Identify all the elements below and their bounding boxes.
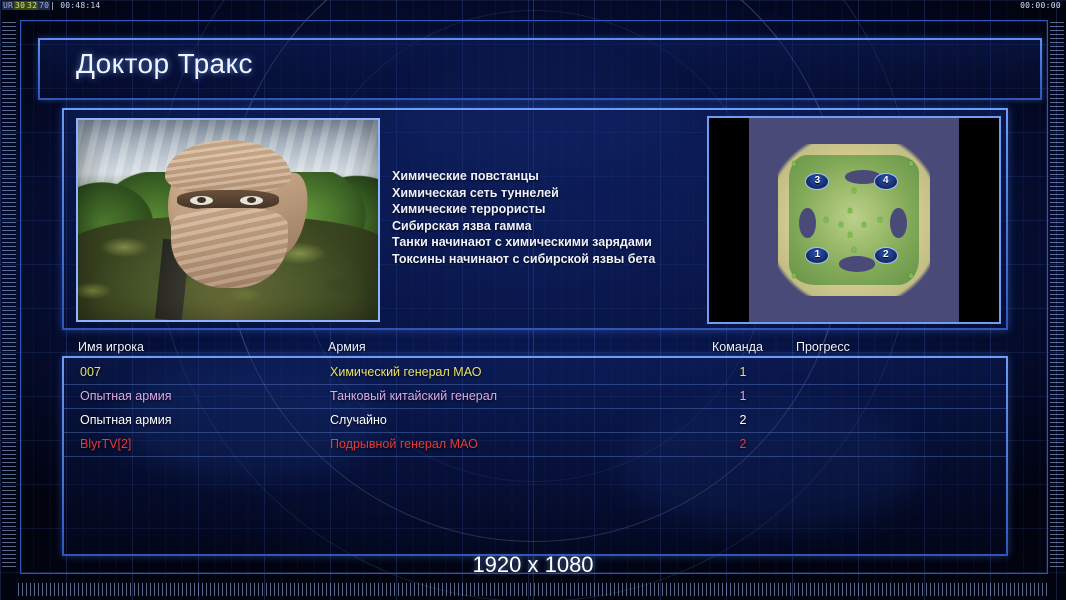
table-row[interactable]: 007 Химический генерал МАО 1 [64, 360, 1006, 385]
map-spawn-1-label: 1 [815, 249, 821, 260]
title-panel: Доктор Тракс [38, 38, 1042, 100]
cell-progress [798, 413, 988, 426]
cell-player-name: 007 [80, 365, 101, 379]
map-prop [909, 273, 913, 278]
info-panel: Химические повстанцы Химическая сеть тун… [62, 108, 1008, 330]
cell-army: Танковый китайский генерал [330, 389, 497, 403]
description-line-4: Сибирская язва гамма [392, 218, 722, 235]
description-line-3: Химические террористы [392, 201, 722, 218]
status-left-group: UR303270| 00:48:14 [2, 0, 100, 11]
cell-player-name: Опытная армия [80, 389, 172, 403]
game-lobby-screen: UR303270| 00:48:14 00:00:00 Доктор Тракс… [0, 0, 1066, 600]
table-row[interactable]: Опытная армия Случайно 2 [64, 408, 1006, 433]
map-preview-inner: 3 4 1 2 [749, 118, 959, 322]
player-table-panel: 007 Химический генерал МАО 1 Опытная арм… [62, 356, 1008, 556]
map-prop [909, 161, 913, 166]
cell-player-name: Опытная армия [80, 413, 172, 427]
top-status-bar: UR303270| 00:48:14 00:00:00 [0, 0, 1066, 11]
map-prop [824, 217, 828, 222]
header-army: Армия [328, 340, 366, 354]
map-prop [848, 208, 852, 213]
status-prefix: UR [2, 1, 14, 10]
status-right-time: 00:00:00 [1020, 0, 1061, 11]
cell-team: 2 [736, 437, 750, 451]
cell-player-name: BlyrTV[2] [80, 437, 131, 451]
resolution-label: 1920 x 1080 [0, 552, 1066, 582]
map-spawn-4-label: 4 [883, 175, 889, 186]
cell-team: 1 [736, 365, 750, 379]
status-value-1: 30 [14, 1, 26, 10]
map-spawn-2-label: 2 [883, 249, 889, 260]
page-title: Доктор Тракс [76, 48, 253, 80]
status-elapsed-time: 00:48:14 [60, 1, 100, 10]
map-prop [848, 232, 852, 237]
description-line-6: Токсины начинают с сибирской язвы бета [392, 251, 722, 268]
cell-army: Случайно [330, 413, 387, 427]
cell-army: Подрывной генерал МАО [330, 437, 478, 451]
map-prop [792, 161, 796, 166]
map-prop [839, 222, 843, 227]
map-spawn-3: 3 [805, 173, 829, 190]
description-line-1: Химические повстанцы [392, 168, 722, 185]
player-table-headers: Имя игрока Армия Команда Прогресс [62, 340, 1004, 356]
table-row[interactable]: Опытная армия Танковый китайский генерал… [64, 384, 1006, 409]
cell-army: Химический генерал МАО [330, 365, 481, 379]
header-progress: Прогресс [796, 340, 850, 354]
map-prop [862, 222, 866, 227]
cell-progress [798, 365, 988, 378]
cell-progress [798, 437, 988, 450]
map-spawn-4: 4 [874, 173, 898, 190]
description-line-2: Химическая сеть туннелей [392, 185, 722, 202]
map-prop [878, 217, 882, 222]
map-island: 3 4 1 2 [778, 144, 930, 296]
map-lake-south [839, 256, 875, 271]
status-separator: | [50, 1, 55, 10]
status-value-2: 32 [26, 1, 38, 10]
map-spawn-3-label: 3 [815, 175, 821, 186]
map-preview[interactable]: 3 4 1 2 [707, 116, 1001, 324]
cell-team: 2 [736, 413, 750, 427]
header-player-name: Имя игрока [78, 340, 144, 354]
map-prop [792, 273, 796, 278]
cell-progress [798, 389, 988, 402]
cell-team: 1 [736, 389, 750, 403]
general-description-list: Химические повстанцы Химическая сеть тун… [392, 168, 722, 268]
map-lake-west [799, 208, 816, 238]
general-portrait [76, 118, 380, 322]
status-value-3: 70 [38, 1, 50, 10]
table-row[interactable]: BlyrTV[2] Подрывной генерал МАО 2 [64, 432, 1006, 457]
portrait-vignette [78, 120, 378, 320]
header-team: Команда [712, 340, 763, 354]
description-line-5: Танки начинают с химическими зарядами [392, 234, 722, 251]
